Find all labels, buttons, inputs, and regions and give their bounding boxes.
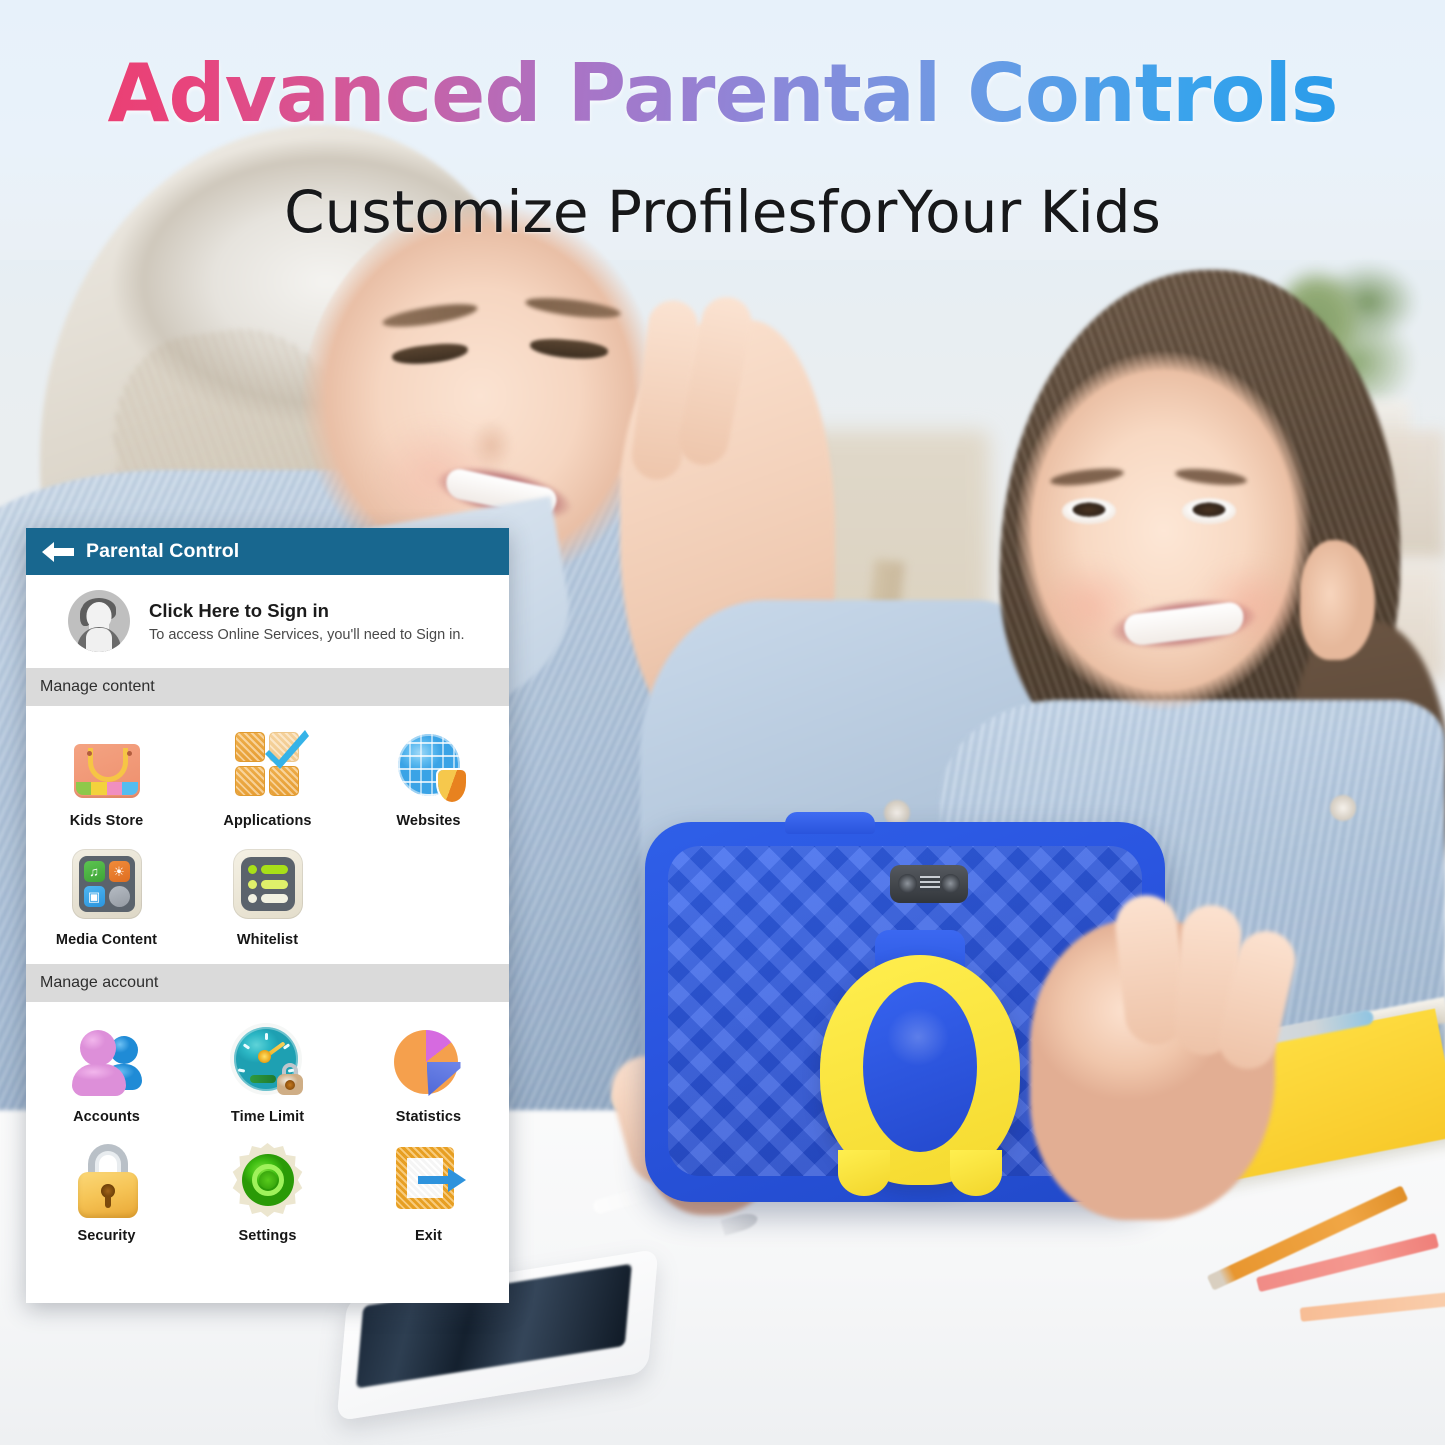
tile-label: Applications [223,813,311,829]
gear-icon [229,1141,307,1219]
tile-label: Settings [239,1228,297,1244]
tile-label: Whitelist [237,932,298,948]
section-header-manage-account: Manage account [26,964,509,1002]
girl-eye-left [1062,498,1116,524]
grid-row: Accounts [26,1016,509,1135]
two-people-icon [68,1022,146,1100]
banner-title: Advanced Parental Controls [0,52,1445,136]
grid-row: ♫ ☀ ▣ Media Content [26,839,509,958]
tablet-camera-module [890,865,968,903]
tile-label: Accounts [73,1109,140,1125]
tile-statistics[interactable]: Statistics [348,1016,509,1135]
tile-label: Kids Store [70,813,144,829]
manage-account-grid: Accounts [26,1002,509,1260]
tile-label: Websites [396,813,460,829]
panel-title: Parental Control [86,540,239,563]
tile-exit[interactable]: Exit [348,1135,509,1254]
tile-accounts[interactable]: Accounts [26,1016,187,1135]
padlock-icon [68,1141,146,1219]
banner-subtitle: Customize ProfilesforYour Kids [0,178,1445,246]
back-arrow-icon[interactable] [40,539,76,565]
globe-shield-icon [390,726,468,804]
sign-in-title: Click Here to Sign in [149,600,465,622]
sign-in-text: Click Here to Sign in To access Online S… [149,600,465,643]
girl-eye-right [1182,498,1236,524]
pie-chart-icon [390,1022,468,1100]
sign-in-description: To access Online Services, you'll need t… [149,627,465,643]
tile-whitelist[interactable]: Whitelist [187,839,348,958]
parental-control-panel: Parental Control Click Here to Sign in T… [26,528,509,1303]
girl-ear [1300,540,1375,660]
grid-row: Security Settings [26,1135,509,1254]
tile-label: Exit [415,1228,442,1244]
media-tiles-icon: ♫ ☀ ▣ [68,845,146,923]
tablet-ring-inner [863,982,977,1152]
section-header-manage-content: Manage content [26,668,509,706]
screenshot-root: Advanced Parental Controls Customize Pro… [0,0,1445,1445]
tile-label: Time Limit [231,1109,304,1125]
girl-shirt-button [1330,795,1356,821]
tile-media-content[interactable]: ♫ ☀ ▣ Media Content [26,839,187,958]
tile-label: Media Content [56,932,157,948]
tile-empty [348,839,509,958]
ring-stand-foot-left [838,1150,890,1196]
exit-arrow-icon [390,1141,468,1219]
mother-nose [470,385,524,471]
tile-settings[interactable]: Settings [187,1135,348,1254]
tile-websites[interactable]: Websites [348,720,509,839]
app-grid-check-icon [229,726,307,804]
tile-applications[interactable]: Applications [187,720,348,839]
tile-time-limit[interactable]: Time Limit [187,1016,348,1135]
sign-in-row[interactable]: Click Here to Sign in To access Online S… [26,575,509,668]
panel-header: Parental Control [26,528,509,575]
shopping-bag-icon [68,726,146,804]
tablet-case-nub [785,812,875,834]
grid-row: Kids Store Applications [26,720,509,839]
tile-kids-store[interactable]: Kids Store [26,720,187,839]
ring-stand-foot-right [950,1150,1002,1196]
user-avatar-icon [68,590,130,652]
manage-content-grid: Kids Store Applications [26,706,509,964]
tile-label: Security [77,1228,135,1244]
gauge-lock-icon [229,1022,307,1100]
whitelist-icon [229,845,307,923]
tile-label: Statistics [396,1109,461,1125]
tile-security[interactable]: Security [26,1135,187,1254]
